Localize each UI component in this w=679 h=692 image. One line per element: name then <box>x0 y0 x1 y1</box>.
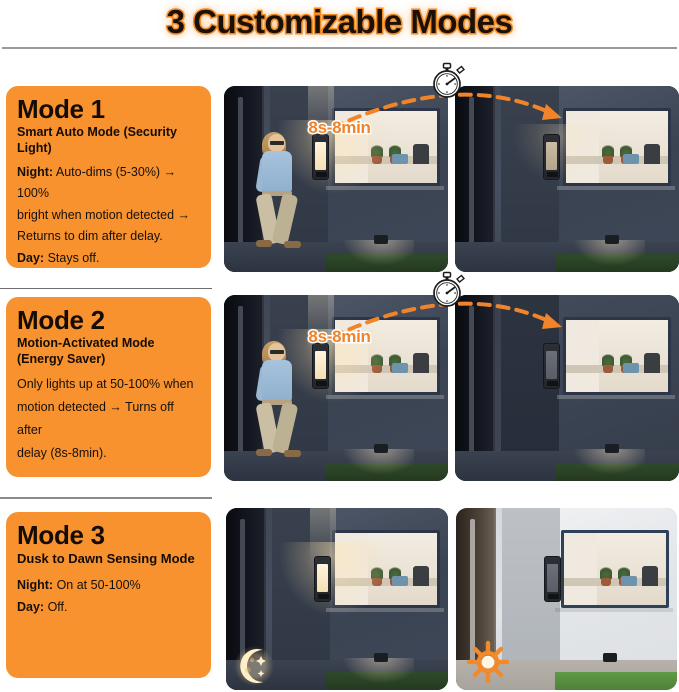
moon-icon <box>232 642 276 686</box>
plant-icon <box>599 566 613 586</box>
house-window <box>563 108 671 186</box>
mode-row-2: Mode 2 Motion-Activated Mode (Energy Sav… <box>0 291 679 489</box>
house-window <box>332 108 440 186</box>
mode-3-subtitle: Dusk to Dawn Sensing Mode <box>17 551 200 567</box>
window-blue-object <box>623 363 639 373</box>
wall-lamp <box>314 556 331 602</box>
row-divider-2 <box>0 497 212 499</box>
mode-2-line-2-text: motion detected → Turns off after <box>17 400 174 437</box>
window-chair <box>642 566 658 586</box>
day-scene-light-off <box>456 508 677 690</box>
wall-lamp <box>312 134 329 180</box>
window-inner-wall <box>335 320 368 392</box>
window-inner-wall <box>566 320 599 392</box>
mode-1-line-4-text: Stays off. <box>44 251 99 265</box>
lamp-up-wash <box>310 508 336 562</box>
wall-lamp <box>543 134 560 180</box>
plant-icon <box>601 353 615 373</box>
mode-1-line-1-label: Night: <box>17 165 53 179</box>
mode-1-line-3-text: Returns to dim after delay. <box>17 229 163 243</box>
window-chair <box>413 353 429 373</box>
mode-2-title: Mode 2 <box>17 307 200 334</box>
ground-light-fixture <box>374 235 388 244</box>
window-blue-object <box>392 576 408 586</box>
mode-card-2: Mode 2 Motion-Activated Mode (Energy Sav… <box>6 297 211 477</box>
mode-3-line-1-text: On at 50-100% <box>53 578 141 592</box>
ground-light-fixture <box>374 653 388 662</box>
window-inner-wall <box>335 533 368 605</box>
wall-lamp <box>543 343 560 389</box>
window-chair <box>413 144 429 164</box>
window-chair <box>413 566 429 586</box>
lawn <box>555 672 677 690</box>
page-header: 3 Customizable Modes <box>0 0 679 44</box>
window-blue-object <box>621 576 637 586</box>
mode-3-right-photo <box>456 508 677 690</box>
mode-1-left-photo <box>224 86 448 272</box>
mode-3-left-photo <box>226 508 448 690</box>
night-scene-empty-light-dim <box>455 86 679 272</box>
mode-2-line-2: motion detected → Turns off after <box>17 396 200 442</box>
mode-1-title: Mode 1 <box>17 96 200 123</box>
window-blue-object <box>623 154 639 164</box>
window-sill <box>557 395 675 399</box>
door-reveal <box>238 306 243 455</box>
ground-light-fixture <box>605 235 619 244</box>
mode-1-line-4: Day: Stays off. <box>17 248 200 270</box>
wall-lamp <box>544 556 561 602</box>
night-scene-person-walking-light-bright <box>224 86 448 272</box>
mode-2-line-3: delay (8s-8min). <box>17 442 200 465</box>
plant-icon <box>370 353 384 373</box>
mode-row-1: Mode 1 Smart Auto Mode (Security Light) … <box>0 82 679 280</box>
window-sill <box>326 608 444 612</box>
house-window <box>561 530 669 608</box>
walking-person <box>250 134 310 254</box>
window-inner-wall <box>335 111 368 183</box>
window-sill <box>555 608 673 612</box>
plant-icon <box>370 566 384 586</box>
mode-2-line-1-text: Only lights up at 50-100% when <box>17 377 194 391</box>
window-chair <box>644 144 660 164</box>
lamp-up-wash <box>308 86 334 140</box>
night-scene-person-walking-light-on <box>224 295 448 481</box>
mode-1-line-3: Returns to dim after delay. <box>17 226 200 248</box>
walking-person <box>250 343 310 463</box>
row-divider-1 <box>0 288 212 289</box>
night-scene-light-on <box>226 508 448 690</box>
mode-card-1: Mode 1 Smart Auto Mode (Security Light) … <box>6 86 211 268</box>
window-sill <box>557 186 675 190</box>
plant-icon <box>601 144 615 164</box>
mode-3-line-2: Day: Off. <box>17 597 200 619</box>
infographic-page: 3 Customizable Modes Mode 1 Smart Auto M… <box>0 0 679 692</box>
ground-light-fixture <box>374 444 388 453</box>
ground-light-fixture <box>603 653 617 662</box>
house-window <box>563 317 671 395</box>
mode-3-line-1-label: Night: <box>17 578 53 592</box>
door-reveal <box>469 306 474 455</box>
mode-1-line-2: bright when motion detected → <box>17 205 200 227</box>
plant-icon <box>370 144 384 164</box>
mode-1-subtitle: Smart Auto Mode (Security Light) <box>17 125 200 156</box>
window-chair <box>644 353 660 373</box>
mode-card-3: Mode 3 Dusk to Dawn Sensing Mode Night: … <box>6 512 211 678</box>
mode-2-left-photo <box>224 295 448 481</box>
mode-1-line-4-label: Day: <box>17 251 44 265</box>
wall-lamp <box>312 343 329 389</box>
page-title: 3 Customizable Modes <box>167 3 513 41</box>
ground-light-fixture <box>605 444 619 453</box>
mode-row-3: Mode 3 Dusk to Dawn Sensing Mode Night: … <box>0 500 679 692</box>
night-scene-empty-light-off <box>455 295 679 481</box>
window-sill <box>326 186 444 190</box>
window-inner-wall <box>564 533 597 605</box>
title-divider <box>2 47 677 49</box>
mode-3-line-1: Night: On at 50-100% <box>17 575 200 597</box>
mode-1-line-2-text: bright when motion detected → <box>17 208 190 222</box>
mode-2-line-1: Only lights up at 50-100% when <box>17 373 200 396</box>
mode-3-line-2-text: Off. <box>44 600 67 614</box>
window-sill <box>326 395 444 399</box>
sun-icon <box>464 638 512 686</box>
mode-2-line-3-text: delay (8s-8min). <box>17 446 107 460</box>
door-reveal <box>238 97 243 246</box>
mode-1-line-1: Night: Auto-dims (5-30%) → 100% <box>17 162 200 205</box>
house-window <box>332 317 440 395</box>
mode-1-right-photo <box>455 86 679 272</box>
mode-3-line-2-label: Day: <box>17 600 44 614</box>
window-blue-object <box>392 363 408 373</box>
door-reveal <box>469 97 474 246</box>
house-window <box>332 530 440 608</box>
lamp-up-wash <box>308 295 334 349</box>
mode-3-title: Mode 3 <box>17 522 200 549</box>
window-blue-object <box>392 154 408 164</box>
mode-2-subtitle: Motion-Activated Mode (Energy Saver) <box>17 336 200 367</box>
mode-2-right-photo <box>455 295 679 481</box>
window-inner-wall <box>566 111 599 183</box>
